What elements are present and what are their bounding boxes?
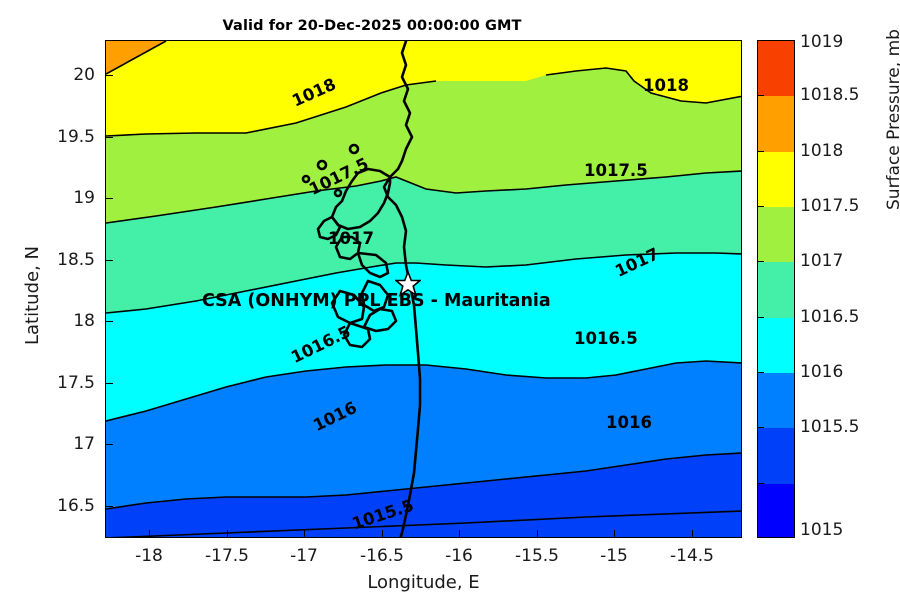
x-tick-label: -14.5	[652, 546, 732, 566]
colorbar-tick-label: 1016	[800, 362, 843, 382]
x-tick-mark	[459, 530, 460, 538]
colorbar-tick-mark	[757, 206, 764, 207]
colorbar-band-1016-1016.5	[758, 318, 794, 373]
colorbar-tick-label: 1016.5	[800, 307, 859, 327]
y-tick-label: 16.5	[25, 496, 95, 516]
x-tick-mark	[304, 530, 305, 538]
contour-label: 1017	[328, 229, 374, 248]
colorbar-band-1018.5-1019	[758, 41, 794, 96]
colorbar-tick-label: 1015	[800, 520, 843, 540]
y-tick-label: 20	[25, 65, 95, 85]
contour-map-svg	[106, 41, 742, 538]
colorbar-tick-label: 1018	[800, 141, 843, 161]
colorbar-tick-mark	[757, 372, 764, 373]
x-tick-label: -16	[419, 546, 499, 566]
contour-label: 1017.5	[584, 161, 648, 180]
y-tick-mark	[105, 75, 113, 76]
y-tick-label: 19	[25, 188, 95, 208]
station-label: CSA (ONHYM) PPL EBS - Mauritania	[202, 291, 551, 311]
y-tick-label: 19.5	[25, 127, 95, 147]
y-tick-label: 17.5	[25, 373, 95, 393]
pressure-contour-figure: Valid for 20-Dec-2025 00:00:00 GMT	[0, 0, 900, 600]
contour-label: 1018	[643, 76, 689, 95]
x-tick-label: -15	[574, 546, 654, 566]
x-tick-label: -16.5	[342, 546, 422, 566]
colorbar-band-1017-1017.5	[758, 207, 794, 262]
y-tick-mark	[105, 506, 113, 507]
x-tick-label: -17	[264, 546, 344, 566]
colorbar-tick-label: 1018.5	[800, 85, 859, 105]
colorbar-tick-label: 1017	[800, 251, 843, 271]
x-tick-mark	[227, 530, 228, 538]
y-tick-mark	[105, 137, 113, 138]
colorbar-tick-mark	[757, 261, 764, 262]
y-tick-mark	[105, 198, 113, 199]
y-tick-mark	[105, 321, 113, 322]
x-tick-mark	[614, 530, 615, 538]
colorbar-tick-label: 1017.5	[800, 196, 859, 216]
contour-label: 1016.5	[574, 329, 638, 348]
x-tick-label: -18	[109, 546, 189, 566]
x-tick-label: -15.5	[497, 546, 577, 566]
x-tick-mark	[692, 530, 693, 538]
colorbar-band-1017.5-1018	[758, 152, 794, 207]
colorbar-band-1016.5-1017	[758, 262, 794, 317]
x-tick-label: -17.5	[187, 546, 267, 566]
colorbar-tick-label: 1015.5	[800, 417, 859, 437]
y-tick-mark	[105, 444, 113, 445]
colorbar-title: Surface Pressure, mb	[884, 29, 900, 210]
colorbar-tick-mark	[757, 151, 764, 152]
y-tick-label: 18.5	[25, 250, 95, 270]
colorbar[interactable]	[757, 40, 795, 538]
colorbar-tick-label: 1019	[800, 32, 843, 52]
x-axis-label: Longitude, E	[105, 572, 742, 593]
colorbar-band-below-1015	[758, 484, 794, 538]
y-tick-mark	[105, 383, 113, 384]
y-tick-mark	[105, 260, 113, 261]
x-tick-mark	[149, 530, 150, 538]
contour-label: 1016	[606, 413, 652, 432]
x-tick-mark	[537, 530, 538, 538]
colorbar-tick-mark	[757, 427, 764, 428]
colorbar-tick-mark	[757, 483, 764, 484]
x-tick-mark	[382, 530, 383, 538]
colorbar-tick-mark	[757, 95, 764, 96]
y-tick-label: 17	[25, 434, 95, 454]
colorbar-band-1018-1018.5	[758, 96, 794, 151]
map-plot-area[interactable]: 1018 1018 1017.5 1017.5 1017 1017 1016.5…	[105, 40, 742, 538]
colorbar-band-1015-1015.5	[758, 428, 794, 483]
figure-title: Valid for 20-Dec-2025 00:00:00 GMT	[0, 18, 744, 34]
colorbar-band-1015.5-1016	[758, 373, 794, 428]
colorbar-tick-mark	[757, 317, 764, 318]
y-tick-label: 18	[25, 311, 95, 331]
